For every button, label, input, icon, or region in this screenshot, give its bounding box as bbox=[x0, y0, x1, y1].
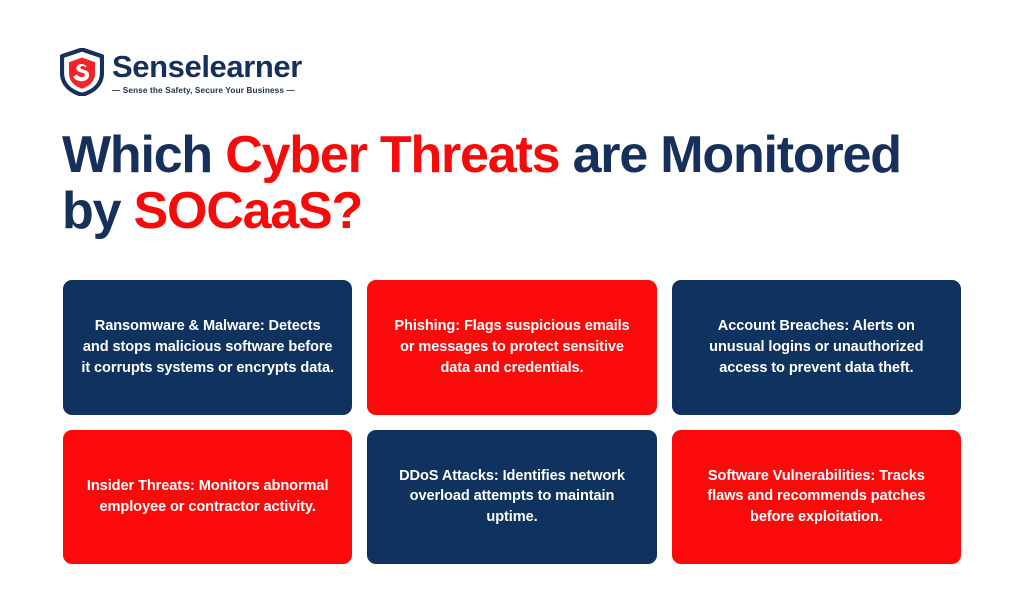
threat-card-insider-threats: Insider Threats: Monitors abnormal emplo… bbox=[63, 430, 352, 565]
threat-card-software-vulnerabilities: Software Vulnerabilities: Tracks flaws a… bbox=[672, 430, 961, 565]
headline-accent-cyber-threats: Cyber Threats bbox=[225, 126, 559, 184]
threat-card-text: Software Vulnerabilities: Tracks flaws a… bbox=[690, 466, 943, 528]
threat-card-ransomware-malware: Ransomware & Malware: Detects and stops … bbox=[63, 280, 352, 415]
threat-card-text: DDoS Attacks: Identifies network overloa… bbox=[385, 466, 638, 528]
threat-card-text: Ransomware & Malware: Detects and stops … bbox=[81, 316, 334, 378]
brand-text-block: Senselearner — Sense the Safety, Secure … bbox=[112, 49, 302, 95]
brand-logo: Senselearner — Sense the Safety, Secure … bbox=[60, 48, 302, 96]
shield-s-logo-icon bbox=[60, 48, 104, 96]
brand-tagline: — Sense the Safety, Secure Your Business… bbox=[112, 87, 302, 95]
threat-card-account-breaches: Account Breaches: Alerts on unusual logi… bbox=[672, 280, 961, 415]
threat-card-text: Account Breaches: Alerts on unusual logi… bbox=[690, 316, 943, 378]
brand-name: Senselearner bbox=[112, 51, 302, 82]
infographic-slide: Senselearner — Sense the Safety, Secure … bbox=[0, 0, 1024, 611]
threat-card-grid: Ransomware & Malware: Detects and stops … bbox=[63, 280, 961, 564]
threat-card-text: Phishing: Flags suspicious emails or mes… bbox=[385, 316, 638, 378]
page-title: Which Cyber Threats are Monitored by SOC… bbox=[62, 128, 962, 239]
threat-card-phishing: Phishing: Flags suspicious emails or mes… bbox=[367, 280, 656, 415]
threat-card-ddos-attacks: DDoS Attacks: Identifies network overloa… bbox=[367, 430, 656, 565]
threat-card-text: Insider Threats: Monitors abnormal emplo… bbox=[81, 476, 334, 517]
headline-segment-1: Which bbox=[62, 126, 225, 184]
headline-accent-socaas: SOCaaS? bbox=[134, 182, 363, 240]
